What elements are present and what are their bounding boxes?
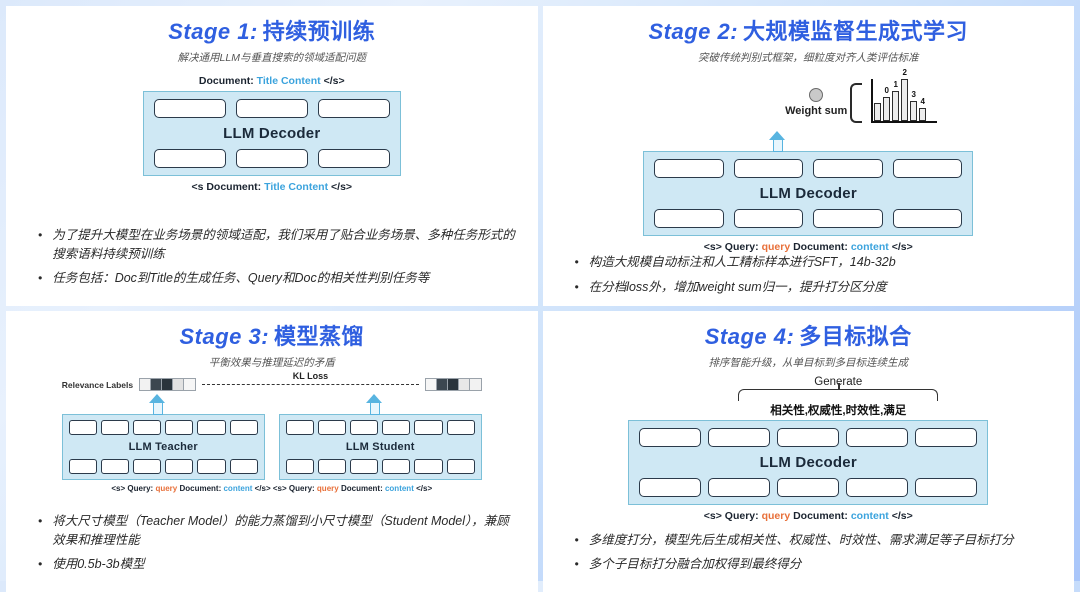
student-token-row-bottom <box>286 459 475 474</box>
stage-2-title-en: Stage 2: <box>648 19 738 44</box>
chart-bar-label-3: 3 <box>912 90 916 99</box>
seq-doc-val: content <box>851 510 889 522</box>
token-cell <box>154 149 226 168</box>
token-cell <box>318 149 390 168</box>
student-label-chips <box>425 378 482 391</box>
token-cell <box>813 159 883 178</box>
page-title-stage-4: Stage 4: 多目标拟合 <box>559 319 1059 351</box>
stage-2-arrow-row <box>643 129 973 151</box>
chart-bar: 0 <box>883 97 890 121</box>
token-cell <box>230 420 258 435</box>
panel-stage-3: Stage 3: 模型蒸馏 平衡效果与推理延迟的矛盾 Relevance Lab… <box>6 311 538 592</box>
token-cell <box>414 420 442 435</box>
token-cell <box>777 478 839 497</box>
score-distribution-chart: 0 1 2 3 4 <box>865 77 939 129</box>
label-chip <box>184 379 195 390</box>
seq-s-open: <s> <box>704 510 722 522</box>
stage-3-bullet-2: 使用0.5b-3b模型 <box>52 555 517 574</box>
stage-2-subtitle: 突破传统判别式框架，细粒度对齐人类评估标准 <box>559 50 1059 65</box>
stage-4-diagram: Generate 相关性,权威性,时效性,满足 LLM Decoder <box>628 376 988 522</box>
stage-1-bottom-highlight: Title Content <box>264 181 328 193</box>
stage-3-title-en: Stage 3: <box>179 324 269 349</box>
chart-bar: 4 <box>919 108 926 121</box>
list-item: • 将大尺寸模型（Teacher Model）的能力蒸馏到小尺寸模型（Stude… <box>38 512 518 550</box>
stage-3-model-row: LLM Teacher <box>62 414 482 480</box>
token-cell <box>654 209 724 228</box>
token-cell <box>350 420 378 435</box>
stage-4-objectives: 相关性,权威性,时效性,满足 <box>770 402 906 418</box>
teacher-token-row-top <box>69 420 258 435</box>
token-cell <box>915 478 977 497</box>
stage-2-bullet-1: 构造大规模自动标注和人工精标样本进行SFT，14b-32b <box>589 253 1054 272</box>
stage-4-generate-group: Generate 相关性,权威性,时效性,满足 <box>628 376 988 418</box>
seq-query-key-2: Query: <box>289 484 315 493</box>
stage-2-bullet-2: 在分档loss外，增加weight sum归一，提升打分区分度 <box>589 278 1054 297</box>
stage-2-diagram: Weight sum 0 1 2 3 4 <box>643 69 973 253</box>
stage-3-student-label: LLM Student <box>346 439 415 455</box>
stage-4-decoder-label: LLM Decoder <box>760 452 857 473</box>
token-cell <box>133 420 161 435</box>
stage-3-teacher-label: LLM Teacher <box>129 439 198 455</box>
bullet-dot-icon: • <box>38 555 42 574</box>
panel-stage-4: Stage 4: 多目标拟合 排序智能升级，从单目标到多目标连续生成 Gener… <box>543 311 1075 592</box>
stage-2-decoder-block: LLM Decoder <box>643 151 973 236</box>
stage-1-subtitle: 解决通用LLM与垂直搜索的领域适配问题 <box>22 50 522 65</box>
brace-icon <box>738 389 938 401</box>
chart-bar: 2 <box>901 79 908 121</box>
token-cell <box>197 420 225 435</box>
token-cell <box>101 459 129 474</box>
stage-1-title-en: Stage 1: <box>168 19 258 44</box>
stage-3-title-cn: 模型蒸馏 <box>274 324 364 349</box>
chart-y-axis <box>871 79 873 123</box>
chart-bar: 3 <box>910 101 917 121</box>
student-token-row-top <box>286 420 475 435</box>
seq-query-val: query <box>762 241 791 253</box>
up-arrow-icon <box>769 131 785 151</box>
token-cell <box>382 420 410 435</box>
stage-1-token-row-bottom <box>154 149 390 168</box>
stage-4-sequence-label: <s> Query: query Document: content </s> <box>628 510 988 522</box>
list-item: • 多维度打分，模型先后生成相关性、权威性、时效性、需求满足等子目标打分 <box>575 531 1055 550</box>
token-cell <box>447 420 475 435</box>
token-cell <box>639 428 701 447</box>
token-cell <box>318 420 346 435</box>
page-title-stage-1: Stage 1: 持续预训练 <box>22 14 522 46</box>
up-arrow-icon <box>149 394 165 414</box>
stage-3-student-column: LLM Student <box>279 414 482 480</box>
stage-1-title-cn: 持续预训练 <box>263 19 376 44</box>
stage-3-diagram: Relevance Labels KL Loss <box>62 378 482 493</box>
chart-bar-label-2: 2 <box>903 68 907 77</box>
brace-icon <box>850 83 862 123</box>
stage-4-token-row-top <box>639 428 977 447</box>
list-item: • 使用0.5b-3b模型 <box>38 555 518 574</box>
token-cell <box>846 478 908 497</box>
seq-s-open: <s> <box>704 241 722 253</box>
bullet-dot-icon: • <box>575 531 579 550</box>
token-cell <box>350 459 378 474</box>
chart-bar-label-4: 4 <box>921 97 925 106</box>
label-chip <box>459 379 470 390</box>
seq-query-key: Query: <box>725 241 759 253</box>
stage-3-bullet-1: 将大尺寸模型（Teacher Model）的能力蒸馏到小尺寸模型（Student… <box>52 512 517 550</box>
bullet-dot-icon: • <box>38 512 42 550</box>
page-title-stage-2: Stage 2: 大规模监督生成式学习 <box>559 14 1059 46</box>
token-cell <box>915 428 977 447</box>
label-chip <box>448 379 459 390</box>
label-chip <box>151 379 162 390</box>
stage-grid: Stage 1: 持续预训练 解决通用LLM与垂直搜索的领域适配问题 Docum… <box>0 0 1080 581</box>
stage-1-top-plain1: Document: <box>199 75 254 87</box>
stage-3-teacher-column: LLM Teacher <box>62 414 265 480</box>
token-cell <box>708 478 770 497</box>
token-cell <box>639 478 701 497</box>
label-chip <box>470 379 481 390</box>
seq-s-close: </s> <box>255 484 271 493</box>
token-cell <box>318 459 346 474</box>
bullet-dot-icon: • <box>38 269 42 288</box>
token-cell <box>447 459 475 474</box>
stage-1-bottom-label: <s Document: Title Content </s> <box>143 181 401 193</box>
chart-bars: 0 1 2 3 4 <box>874 79 926 121</box>
stage-3-relevance-label: Relevance Labels <box>62 380 133 390</box>
stage-1-token-row-top <box>154 99 390 118</box>
token-cell <box>165 420 193 435</box>
seq-doc-val-2: content <box>385 484 414 493</box>
list-item: • 为了提升大模型在业务场景的领域适配，我们采用了贴合业务场景、多种任务形式的搜… <box>38 226 518 264</box>
list-item: • 构造大规模自动标注和人工精标样本进行SFT，14b-32b <box>575 253 1055 272</box>
token-cell <box>69 459 97 474</box>
stage-4-decoder-block: LLM Decoder <box>628 420 988 505</box>
stage-3-student-block: LLM Student <box>279 414 482 480</box>
chart-x-axis <box>871 121 937 123</box>
stage-2-sequence-label: <s> Query: query Document: content </s> <box>643 241 973 253</box>
stage-1-bullet-1: 为了提升大模型在业务场景的领域适配，我们采用了贴合业务场景、多种任务形式的搜索语… <box>52 226 517 264</box>
stage-4-title-cn: 多目标拟合 <box>799 324 912 349</box>
token-cell <box>69 420 97 435</box>
seq-query-val-2: query <box>317 484 339 493</box>
stage-3-arrow-row <box>62 392 482 414</box>
label-chip <box>437 379 448 390</box>
stage-3-sequence-label: <s> Query: query Document: content </s> … <box>62 484 482 493</box>
stage-2-decoder-label: LLM Decoder <box>760 183 857 204</box>
stage-3-kl-label: KL Loss <box>293 371 328 381</box>
token-cell <box>893 159 963 178</box>
token-cell <box>777 428 839 447</box>
token-cell <box>708 428 770 447</box>
list-item: • 任务包括：Doc到Title的生成任务、Query和Doc的相关性判别任务等 <box>38 269 518 288</box>
panel-stage-1: Stage 1: 持续预训练 解决通用LLM与垂直搜索的领域适配问题 Docum… <box>6 6 538 306</box>
seq-doc-val: content <box>223 484 252 493</box>
stage-3-label-row: Relevance Labels KL Loss <box>62 378 482 391</box>
stage-4-bullets: • 多维度打分，模型先后生成相关性、权威性、时效性、需求满足等子目标打分 • 多… <box>559 531 1059 587</box>
token-cell <box>734 159 804 178</box>
token-cell <box>893 209 963 228</box>
teacher-token-row-bottom <box>69 459 258 474</box>
bullet-dot-icon: • <box>38 226 42 264</box>
bullet-dot-icon: • <box>575 555 579 574</box>
seq-s-close-2: </s> <box>416 484 432 493</box>
seq-doc-key: Document: <box>793 510 848 522</box>
chart-bar: 1 <box>892 91 899 121</box>
stage-1-decoder-label: LLM Decoder <box>223 123 320 144</box>
stage-3-bullets: • 将大尺寸模型（Teacher Model）的能力蒸馏到小尺寸模型（Stude… <box>22 512 522 586</box>
stage-1-top-label: Document: Title Content </s> <box>143 75 401 87</box>
seq-query-val: query <box>762 510 791 522</box>
label-chip <box>426 379 437 390</box>
token-cell <box>414 459 442 474</box>
kl-loss-connector: KL Loss <box>202 384 419 385</box>
seq-s-close: </s> <box>892 510 913 522</box>
page-title-stage-3: Stage 3: 模型蒸馏 <box>22 319 522 351</box>
seq-doc-key: Document: <box>793 241 848 253</box>
teacher-label-chips <box>139 378 196 391</box>
chart-bar-label-0: 0 <box>885 86 889 95</box>
token-cell <box>197 459 225 474</box>
chart-bar-label-1: 1 <box>894 80 898 89</box>
seq-s-open-2: <s> <box>273 484 287 493</box>
stage-1-bullet-2: 任务包括：Doc到Title的生成任务、Query和Doc的相关性判别任务等 <box>52 269 517 288</box>
stage-2-weight-sum-chart: Weight sum 0 1 2 3 4 <box>643 69 973 129</box>
seq-query-key: Query: <box>127 484 153 493</box>
weight-sum-node-icon <box>809 88 823 102</box>
label-chip <box>162 379 173 390</box>
token-cell <box>734 209 804 228</box>
seq-query-val: query <box>155 484 177 493</box>
stage-4-subtitle: 排序智能升级，从单目标到多目标连续生成 <box>559 355 1059 370</box>
bullet-dot-icon: • <box>575 278 579 297</box>
stage-1-bottom-plain2: </s> <box>331 181 352 193</box>
stage-1-top-highlight: Title Content <box>257 75 321 87</box>
chart-bar <box>874 103 881 121</box>
stage-3-teacher-block: LLM Teacher <box>62 414 265 480</box>
stage-1-top-plain2: </s> <box>324 75 345 87</box>
token-cell <box>154 99 226 118</box>
token-cell <box>165 459 193 474</box>
label-chip <box>173 379 184 390</box>
stage-4-bullet-1: 多维度打分，模型先后生成相关性、权威性、时效性、需求满足等子目标打分 <box>589 531 1054 550</box>
seq-query-key: Query: <box>725 510 759 522</box>
token-cell <box>318 99 390 118</box>
token-cell <box>236 99 308 118</box>
stage-4-title-en: Stage 4: <box>705 324 795 349</box>
stage-2-token-row-bottom <box>654 209 962 228</box>
seq-doc-key-2: Document: <box>341 484 383 493</box>
stage-1-bullets: • 为了提升大模型在业务场景的领域适配，我们采用了贴合业务场景、多种任务形式的搜… <box>22 226 522 300</box>
stage-2-bullets: • 构造大规模自动标注和人工精标样本进行SFT，14b-32b • 在分档los… <box>559 253 1059 306</box>
token-cell <box>654 159 724 178</box>
token-cell <box>286 420 314 435</box>
stage-1-bottom-plain1: <s Document: <box>191 181 261 193</box>
token-cell <box>230 459 258 474</box>
stage-2-weight-sum-label: Weight sum <box>785 105 847 117</box>
token-cell <box>813 209 883 228</box>
stage-1-decoder-block: LLM Decoder <box>143 91 401 176</box>
list-item: • 多个子目标打分融合加权得到最终得分 <box>575 555 1055 574</box>
stage-2-token-row-top <box>654 159 962 178</box>
up-arrow-icon <box>366 394 382 414</box>
token-cell <box>236 149 308 168</box>
bullet-dot-icon: • <box>575 253 579 272</box>
token-cell <box>101 420 129 435</box>
seq-doc-key: Document: <box>179 484 221 493</box>
token-cell <box>846 428 908 447</box>
stage-4-token-row-bottom <box>639 478 977 497</box>
seq-s-open: <s> <box>111 484 125 493</box>
stage-1-diagram: Document: Title Content </s> LLM Decoder <box>143 75 401 193</box>
token-cell <box>286 459 314 474</box>
stage-3-subtitle: 平衡效果与推理延迟的矛盾 <box>22 355 522 370</box>
stage-2-title-cn: 大规模监督生成式学习 <box>743 19 968 44</box>
panel-stage-2: Stage 2: 大规模监督生成式学习 突破传统判别式框架，细粒度对齐人类评估标… <box>543 6 1075 306</box>
token-cell <box>133 459 161 474</box>
stage-4-bullet-2: 多个子目标打分融合加权得到最终得分 <box>589 555 1054 574</box>
list-item: • 在分档loss外，增加weight sum归一，提升打分区分度 <box>575 278 1055 297</box>
seq-doc-val: content <box>851 241 889 253</box>
seq-s-close: </s> <box>892 241 913 253</box>
token-cell <box>382 459 410 474</box>
label-chip <box>140 379 151 390</box>
